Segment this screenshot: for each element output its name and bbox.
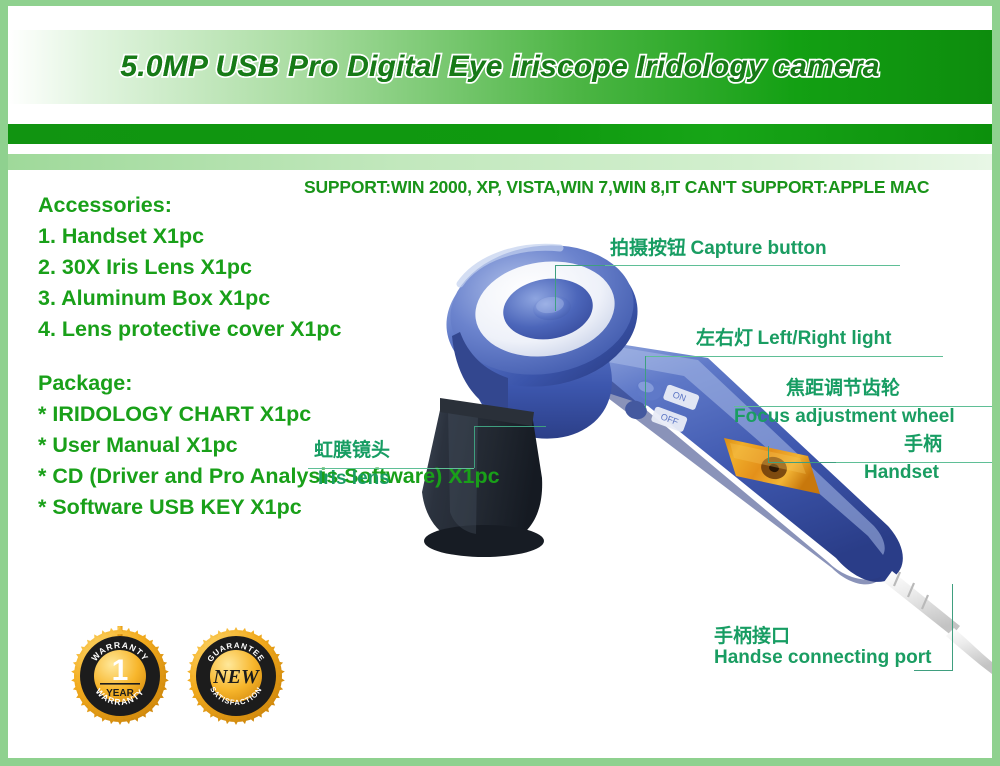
warranty-badge: WARRANTY WARRANTY 1 YEAR [70,626,170,731]
callout-left-right-light: 左右灯 Left/Right light [696,328,892,349]
package-block: Package: * IRIDOLOGY CHART X1pc * User M… [38,368,500,523]
callout-handset-cn: 手柄 [904,434,942,455]
warranty-center-number: 1 [112,654,129,687]
accessories-block: Accessories: 1. Handset X1pc 2. 30X Iris… [38,190,342,345]
callout-iris-lens-en-wrap: Iris lens [318,468,390,489]
package-item-2: * User Manual X1pc [38,430,500,461]
package-item-3: * CD (Driver and Pro Analysis Software) … [38,461,500,492]
callout-port-leader-h [914,670,952,671]
callout-port-leader [952,584,953,671]
callout-light-underline [645,356,943,357]
accessories-heading: Accessories: [38,190,342,221]
callout-capture-leader-h [555,265,605,266]
callout-iris-leader [474,426,475,468]
callout-handset: 手柄 [904,434,942,455]
page-inner: 5.0MP USB Pro Digital Eye iriscope Irido… [8,6,992,758]
callout-connecting-port-cn: 手柄接口 [714,626,931,647]
accessories-item-4: 4. Lens protective cover X1pc [38,314,342,345]
warranty-badge-icon: WARRANTY WARRANTY 1 YEAR [70,626,170,726]
callout-light-leader [645,356,646,408]
callout-handset-en-wrap: Handset [864,462,939,483]
callout-handset-leader [768,446,769,463]
callout-capture-leader [555,265,556,311]
accessories-item-1: 1. Handset X1pc [38,221,342,252]
guarantee-badge: GUARANTEE SATISFACTION NEW [186,626,286,731]
callout-iris-lens: 虹膜镜头 [314,440,390,461]
callout-capture-button-cn: 拍摄按钮 [610,238,686,259]
callout-handset-en: Handset [864,462,939,483]
accessories-item-3: 3. Aluminum Box X1pc [38,283,342,314]
accessories-item-2: 2. 30X Iris Lens X1pc [38,252,342,283]
callout-capture-underline [604,265,900,266]
callout-focus-wheel: 焦距调节齿轮 [786,378,900,399]
callout-focus-wheel-cn: 焦距调节齿轮 [786,378,900,399]
callout-capture-button: 拍摄按钮 Capture button [610,238,827,259]
callout-focus-wheel-en-wrap: Focus adjustment wheel [734,406,955,427]
callout-connecting-port-en: Handse connecting port [714,647,931,668]
callout-iris-lens-cn: 虹膜镜头 [314,440,390,461]
package-item-1: * IRIDOLOGY CHART X1pc [38,399,500,430]
callout-capture-button-en: Capture button [690,238,826,259]
package-heading: Package: [38,368,500,399]
callout-left-right-light-en: Left/Right light [757,328,891,349]
warranty-center-year: YEAR [106,688,135,699]
guarantee-center-text: NEW [212,666,260,688]
product-info-page: 5.0MP USB Pro Digital Eye iriscope Irido… [0,0,1000,766]
callout-iris-lens-en: Iris lens [318,468,390,489]
callout-handset-leader-h [768,462,836,463]
callout-focus-wheel-en: Focus adjustment wheel [734,406,955,427]
callout-iris-leader-h [474,426,546,427]
guarantee-badge-icon: GUARANTEE SATISFACTION NEW [186,626,286,726]
callout-connecting-port: 手柄接口 Handse connecting port [714,626,931,669]
package-item-4: * Software USB KEY X1pc [38,492,500,523]
callout-left-right-light-cn: 左右灯 [696,328,753,349]
